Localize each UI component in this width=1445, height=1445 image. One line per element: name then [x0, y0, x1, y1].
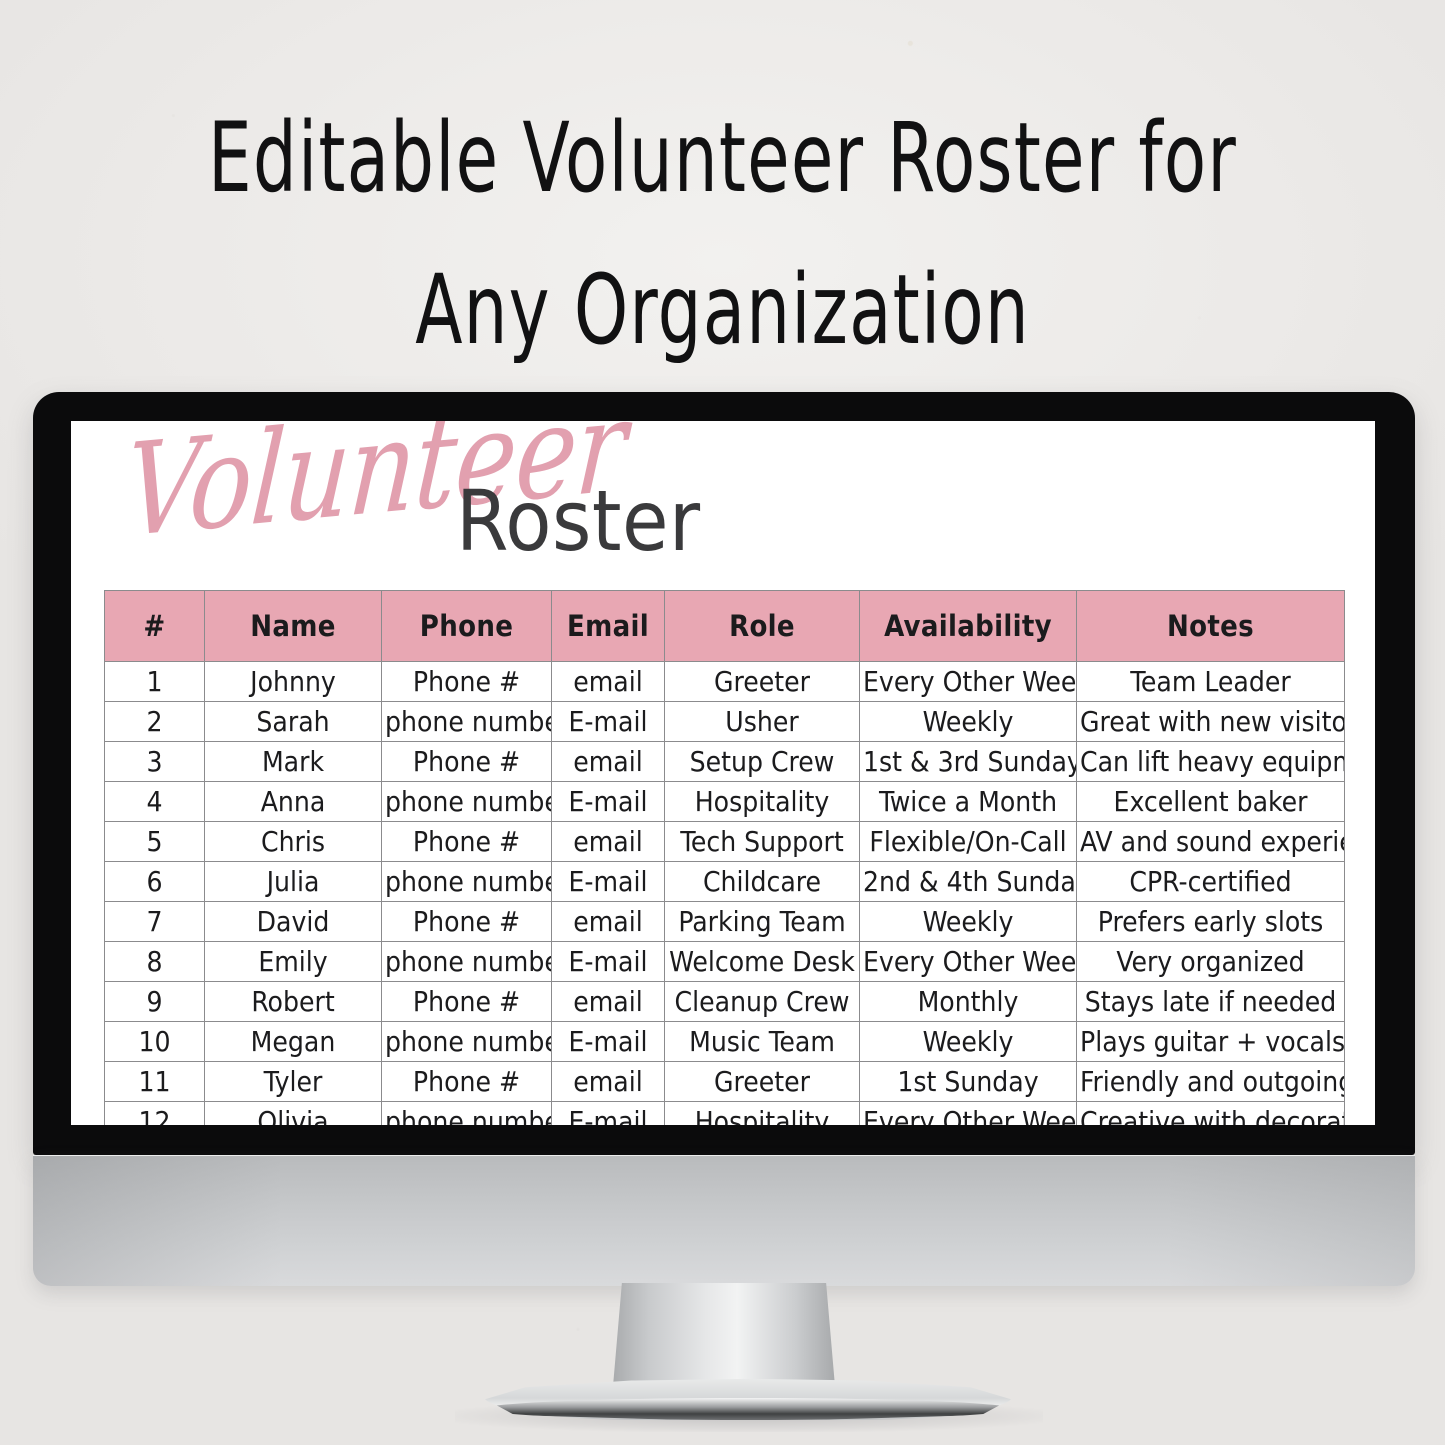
cell-notes[interactable]: Friendly and outgoing — [1077, 1062, 1345, 1102]
table-row[interactable]: 7DavidPhone #emailParking TeamWeeklyPref… — [105, 902, 1345, 942]
cell-number[interactable]: 5 — [105, 822, 205, 862]
cell-phone[interactable]: Phone # — [382, 662, 552, 702]
cell-name[interactable]: David — [205, 902, 382, 942]
cell-role[interactable]: Tech Support — [665, 822, 860, 862]
imac-mockup: Volunteer Roster # Name Phone Email — [0, 0, 1445, 1445]
cell-number[interactable]: 3 — [105, 742, 205, 782]
cell-availability[interactable]: Twice a Month — [860, 782, 1077, 822]
cell-availability[interactable]: Weekly — [860, 1022, 1077, 1062]
cell-role[interactable]: Hospitality — [665, 782, 860, 822]
cell-email[interactable]: E-mail — [552, 942, 665, 982]
cell-name[interactable]: Sarah — [205, 702, 382, 742]
column-header-number[interactable]: # — [105, 591, 205, 662]
cell-notes[interactable]: Very organized — [1077, 942, 1345, 982]
table-header-row: # Name Phone Email Role Availability Not… — [105, 591, 1345, 662]
cell-role[interactable]: Childcare — [665, 862, 860, 902]
cell-email[interactable]: E-mail — [552, 782, 665, 822]
table-row[interactable]: 2Sarahphone numberE-mailUsherWeeklyGreat… — [105, 702, 1345, 742]
cell-role[interactable]: Welcome Desk — [665, 942, 860, 982]
document-logo: Volunteer Roster — [71, 429, 1375, 589]
cell-phone[interactable]: phone number — [382, 1022, 552, 1062]
cell-role[interactable]: Music Team — [665, 1022, 860, 1062]
cell-phone[interactable]: Phone # — [382, 742, 552, 782]
cell-name[interactable]: Olivia — [205, 1102, 382, 1126]
table-row[interactable]: 10Meganphone numberE-mailMusic TeamWeekl… — [105, 1022, 1345, 1062]
monitor-bezel: Volunteer Roster # Name Phone Email — [33, 392, 1415, 1155]
cell-email[interactable]: E-mail — [552, 1102, 665, 1126]
cell-availability[interactable]: Every Other Week — [860, 662, 1077, 702]
cell-phone[interactable]: Phone # — [382, 1062, 552, 1102]
cell-availability[interactable]: Weekly — [860, 702, 1077, 742]
column-header-role[interactable]: Role — [665, 591, 860, 662]
cell-notes[interactable]: Plays guitar + vocals — [1077, 1022, 1345, 1062]
cell-phone[interactable]: Phone # — [382, 902, 552, 942]
cell-email[interactable]: E-mail — [552, 1022, 665, 1062]
cell-availability[interactable]: Every Other Week — [860, 942, 1077, 982]
cell-number[interactable]: 4 — [105, 782, 205, 822]
cell-phone[interactable]: phone number — [382, 942, 552, 982]
cell-name[interactable]: Anna — [205, 782, 382, 822]
cell-role[interactable]: Hospitality — [665, 1102, 860, 1126]
cell-name[interactable]: Julia — [205, 862, 382, 902]
cell-email[interactable]: E-mail — [552, 702, 665, 742]
cell-number[interactable]: 7 — [105, 902, 205, 942]
cell-availability[interactable]: Every Other Week — [860, 1102, 1077, 1126]
cell-availability[interactable]: Monthly — [860, 982, 1077, 1022]
table-header: # Name Phone Email Role Availability Not… — [105, 591, 1345, 662]
volunteer-roster-table: # Name Phone Email Role Availability Not… — [104, 590, 1345, 1125]
cell-number[interactable]: 2 — [105, 702, 205, 742]
cell-role[interactable]: Parking Team — [665, 902, 860, 942]
cell-role[interactable]: Cleanup Crew — [665, 982, 860, 1022]
cell-notes[interactable]: Great with new visitors — [1077, 702, 1345, 742]
cell-number[interactable]: 11 — [105, 1062, 205, 1102]
cell-name[interactable]: Johnny — [205, 662, 382, 702]
cell-role[interactable]: Usher — [665, 702, 860, 742]
table-row[interactable]: 6Juliaphone numberE-mailChildcare2nd & 4… — [105, 862, 1345, 902]
cell-availability[interactable]: 1st & 3rd Sundays — [860, 742, 1077, 782]
cell-availability[interactable]: 2nd & 4th Sundays — [860, 862, 1077, 902]
column-header-phone[interactable]: Phone — [382, 591, 552, 662]
cell-number[interactable]: 10 — [105, 1022, 205, 1062]
cell-notes[interactable]: AV and sound experience — [1077, 822, 1345, 862]
cell-notes[interactable]: Stays late if needed — [1077, 982, 1345, 1022]
monitor-screen: Volunteer Roster # Name Phone Email — [71, 421, 1375, 1125]
cell-phone[interactable]: phone number — [382, 862, 552, 902]
table-row[interactable]: 1JohnnyPhone #emailGreeterEvery Other We… — [105, 662, 1345, 702]
cell-email[interactable]: email — [552, 822, 665, 862]
cell-email[interactable]: email — [552, 982, 665, 1022]
table-row[interactable]: 4Annaphone numberE-mailHospitalityTwice … — [105, 782, 1345, 822]
cell-email[interactable]: email — [552, 662, 665, 702]
cell-notes[interactable]: Can lift heavy equipment — [1077, 742, 1345, 782]
column-header-availability[interactable]: Availability — [860, 591, 1077, 662]
cell-role[interactable]: Setup Crew — [665, 742, 860, 782]
cell-number[interactable]: 12 — [105, 1102, 205, 1126]
spreadsheet-document: Volunteer Roster # Name Phone Email — [71, 421, 1375, 1125]
cell-phone[interactable]: Phone # — [382, 982, 552, 1022]
cell-phone[interactable]: phone number — [382, 1102, 552, 1126]
cell-phone[interactable]: phone number — [382, 782, 552, 822]
cell-notes[interactable]: Prefers early slots — [1077, 902, 1345, 942]
cell-email[interactable]: email — [552, 902, 665, 942]
cell-number[interactable]: 6 — [105, 862, 205, 902]
cell-phone[interactable]: phone number — [382, 702, 552, 742]
logo-plain-word: Roster — [456, 479, 701, 563]
table-body: 1JohnnyPhone #emailGreeterEvery Other We… — [105, 662, 1345, 1126]
cell-notes[interactable]: Creative with decorations — [1077, 1102, 1345, 1126]
cell-name[interactable]: Mark — [205, 742, 382, 782]
cell-name[interactable]: Robert — [205, 982, 382, 1022]
cell-availability[interactable]: Weekly — [860, 902, 1077, 942]
cell-availability[interactable]: Flexible/On-Call — [860, 822, 1077, 862]
cell-notes[interactable]: Team Leader — [1077, 662, 1345, 702]
table-row[interactable]: 5ChrisPhone #emailTech SupportFlexible/O… — [105, 822, 1345, 862]
cell-email[interactable]: email — [552, 742, 665, 782]
column-header-notes[interactable]: Notes — [1077, 591, 1345, 662]
cell-number[interactable]: 9 — [105, 982, 205, 1022]
cell-email[interactable]: email — [552, 1062, 665, 1102]
cell-number[interactable]: 1 — [105, 662, 205, 702]
cell-email[interactable]: E-mail — [552, 862, 665, 902]
cell-name[interactable]: Tyler — [205, 1062, 382, 1102]
table-row[interactable]: 11TylerPhone #emailGreeter1st SundayFrie… — [105, 1062, 1345, 1102]
cell-notes[interactable]: Excellent baker — [1077, 782, 1345, 822]
cell-name[interactable]: Megan — [205, 1022, 382, 1062]
column-header-name[interactable]: Name — [205, 591, 382, 662]
table-row[interactable]: 8Emilyphone numberE-mailWelcome DeskEver… — [105, 942, 1345, 982]
cell-name[interactable]: Chris — [205, 822, 382, 862]
cell-phone[interactable]: Phone # — [382, 822, 552, 862]
table-row[interactable]: 12Oliviaphone numberE-mailHospitalityEve… — [105, 1102, 1345, 1126]
cell-notes[interactable]: CPR-certified — [1077, 862, 1345, 902]
column-header-email[interactable]: Email — [552, 591, 665, 662]
cell-availability[interactable]: 1st Sunday — [860, 1062, 1077, 1102]
monitor-chin — [33, 1155, 1415, 1286]
cell-name[interactable]: Emily — [205, 942, 382, 982]
table-row[interactable]: 9RobertPhone #emailCleanup CrewMonthlySt… — [105, 982, 1345, 1022]
cell-role[interactable]: Greeter — [665, 1062, 860, 1102]
table-row[interactable]: 3MarkPhone #emailSetup Crew1st & 3rd Sun… — [105, 742, 1345, 782]
cell-role[interactable]: Greeter — [665, 662, 860, 702]
cell-number[interactable]: 8 — [105, 942, 205, 982]
